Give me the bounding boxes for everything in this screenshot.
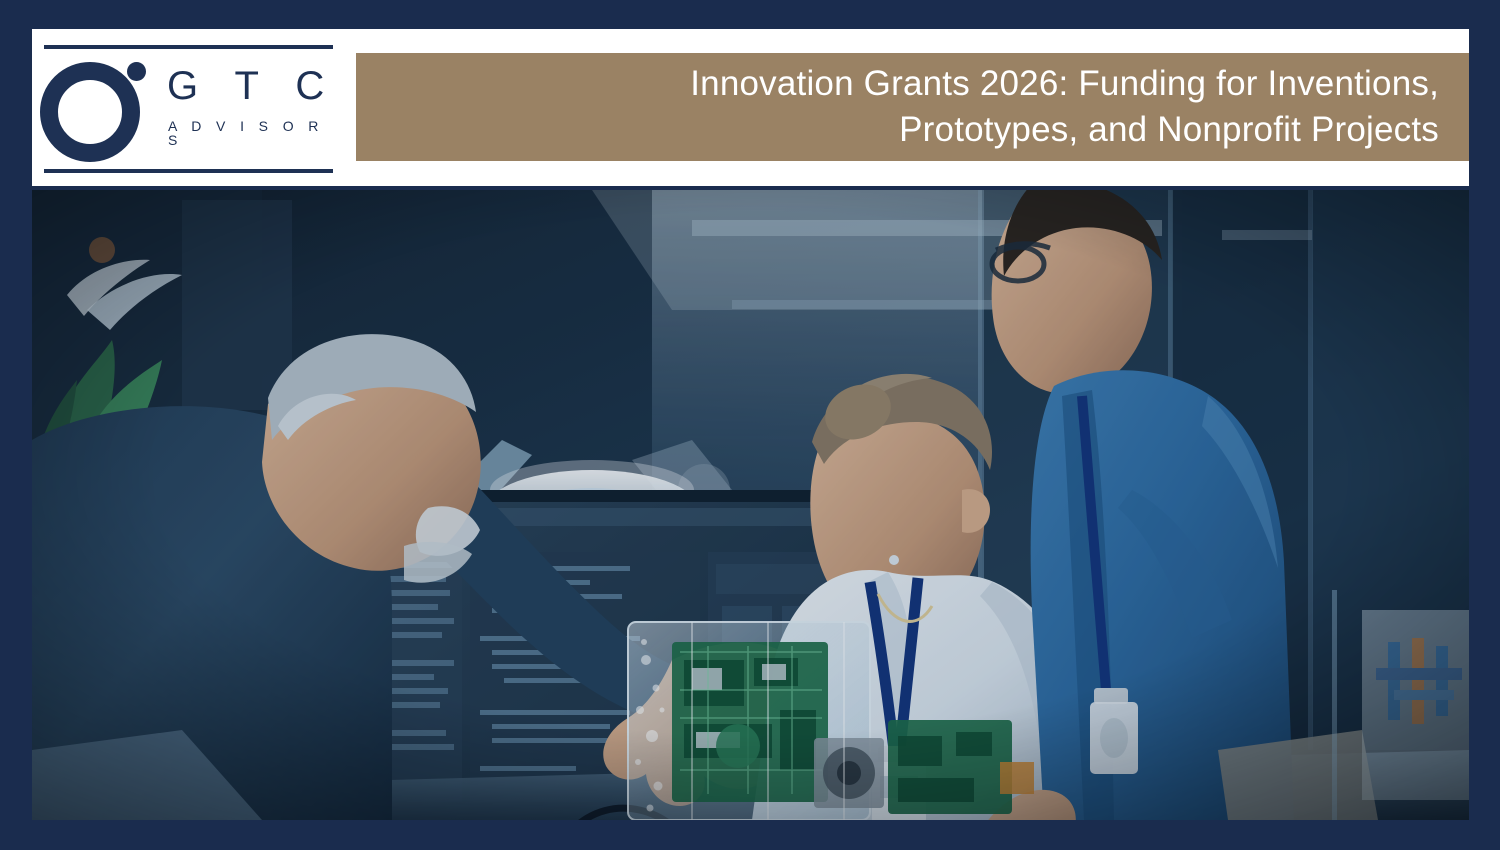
photo-color-grade [32, 190, 1469, 820]
logo-lockup: G T C A D V I S O R S [32, 58, 345, 160]
logo-dot-shape [127, 62, 146, 81]
brand-name: G T C [164, 66, 345, 106]
hero-photo-illustration [32, 190, 1469, 820]
logo-ring-shape [40, 62, 140, 162]
brand-logo-panel[interactable]: G T C A D V I S O R S [32, 29, 345, 186]
brand-wordmark: G T C A D V I S O R S [164, 66, 345, 151]
header-bar: G T C A D V I S O R S Innovation Grants … [32, 29, 1469, 186]
title-banner: Innovation Grants 2026: Funding for Inve… [356, 53, 1469, 161]
poster-canvas: G T C A D V I S O R S Innovation Grants … [0, 0, 1500, 850]
ring-with-dot-icon [32, 58, 150, 160]
logo-rule-bottom [44, 169, 333, 173]
header-spacer [345, 29, 356, 186]
brand-tagline: A D V I S O R S [164, 119, 345, 147]
logo-rule-top [44, 45, 333, 49]
page-title: Innovation Grants 2026: Funding for Inve… [690, 61, 1469, 153]
hero-photo [32, 190, 1469, 820]
